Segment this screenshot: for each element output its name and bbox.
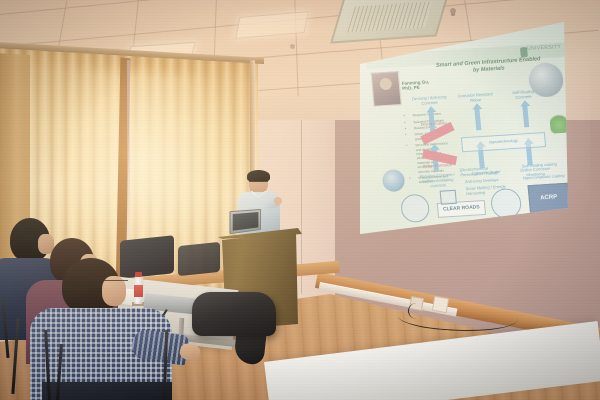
presenter-hand <box>274 197 282 205</box>
ceiling-light-panel <box>235 11 309 39</box>
backpack <box>192 292 276 336</box>
slide-center-box-label: Nanotechnology <box>462 136 544 146</box>
arrow-down-icon <box>522 105 529 127</box>
partner-logo-icon <box>400 194 430 224</box>
slide-node-label: De-Icing / Anti-Icing Concrete <box>411 94 448 106</box>
presenter-laptop <box>229 209 261 234</box>
arrow-down-icon <box>474 108 481 130</box>
sprinkler-icon <box>290 44 295 49</box>
sprinkler-icon <box>450 8 456 14</box>
slide-node-label: Self-Healing Concrete <box>505 88 542 100</box>
slide-brand-text: UNIVERSITY <box>527 44 562 52</box>
audience-member-front <box>30 258 170 400</box>
slide-node-label: Pervious Concrete / Self-consolidating c… <box>416 172 459 190</box>
curtain-gap-light <box>127 60 130 270</box>
slide-presenter-photo <box>371 71 402 107</box>
office-chair <box>178 242 220 276</box>
audience-trousers <box>42 382 172 400</box>
slide-node-label: Corrosion Resistant Rebar <box>457 91 494 103</box>
glasses-icon <box>104 280 128 285</box>
slide-presenter-name: Fanming Gu, PhD, PE <box>402 79 439 91</box>
glasses-icon <box>249 181 268 185</box>
partner-logo-icon <box>440 190 457 205</box>
conference-room-photo: UNIVERSITY Smart and Green Infrastructur… <box>0 0 600 400</box>
